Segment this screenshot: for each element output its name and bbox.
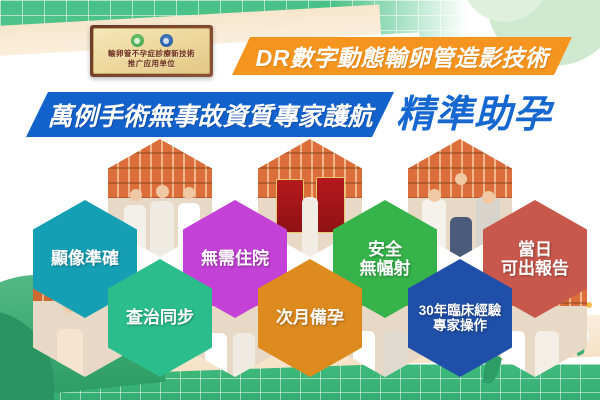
feature-label-2: 無需住院: [197, 249, 273, 268]
promotional-banner: 輸卵管不孕症診療新技術 推广应用单位 DR數字動態輸卵管造影技術 萬例手術無事故…: [0, 0, 600, 400]
certification-plaque: 輸卵管不孕症診療新技術 推广应用单位: [90, 25, 213, 77]
feature-label-4-line2: 無幅射: [360, 259, 411, 278]
main-headline: 精準助孕: [396, 94, 552, 136]
feature-label-1: 查治同步: [122, 308, 198, 327]
feature-label-5-line1: 30年臨床經驗: [419, 303, 502, 318]
blue-ribbon-text: 萬例手術無事故資質專家護航: [47, 97, 372, 133]
feature-hexagon-grid: 顯像準確 無需住院 安全 無幅射 當日 可出報告 查治同步 次月備孕 3: [0, 145, 600, 345]
feature-label-4-line1: 安全: [368, 240, 402, 259]
feature-label-6-line2: 可出報告: [501, 259, 569, 278]
feature-label-3: 次月備孕: [272, 308, 348, 327]
feature-label-4: 安全 無幅射: [356, 240, 415, 278]
plaque-line-2: 推广应用单位: [128, 59, 175, 68]
feature-label-6: 當日 可出報告: [497, 240, 573, 278]
green-emblem-icon: [131, 34, 144, 47]
plaque-logos: [131, 34, 173, 47]
blue-emblem-icon: [160, 34, 173, 47]
plaque-line-1: 輸卵管不孕症診療新技術: [108, 49, 195, 58]
blue-ribbon: 萬例手術無事故資質專家護航: [26, 92, 394, 137]
feature-label-0: 顯像準確: [47, 249, 123, 268]
feature-label-5-line2: 專家操作: [433, 318, 487, 333]
orange-ribbon: DR數字動態輸卵管造影技術: [232, 37, 572, 75]
feature-label-6-line1: 當日: [518, 240, 552, 259]
orange-ribbon-text: DR數字動態輸卵管造影技術: [256, 39, 549, 73]
feature-label-5: 30年臨床經驗 專家操作: [415, 303, 506, 333]
